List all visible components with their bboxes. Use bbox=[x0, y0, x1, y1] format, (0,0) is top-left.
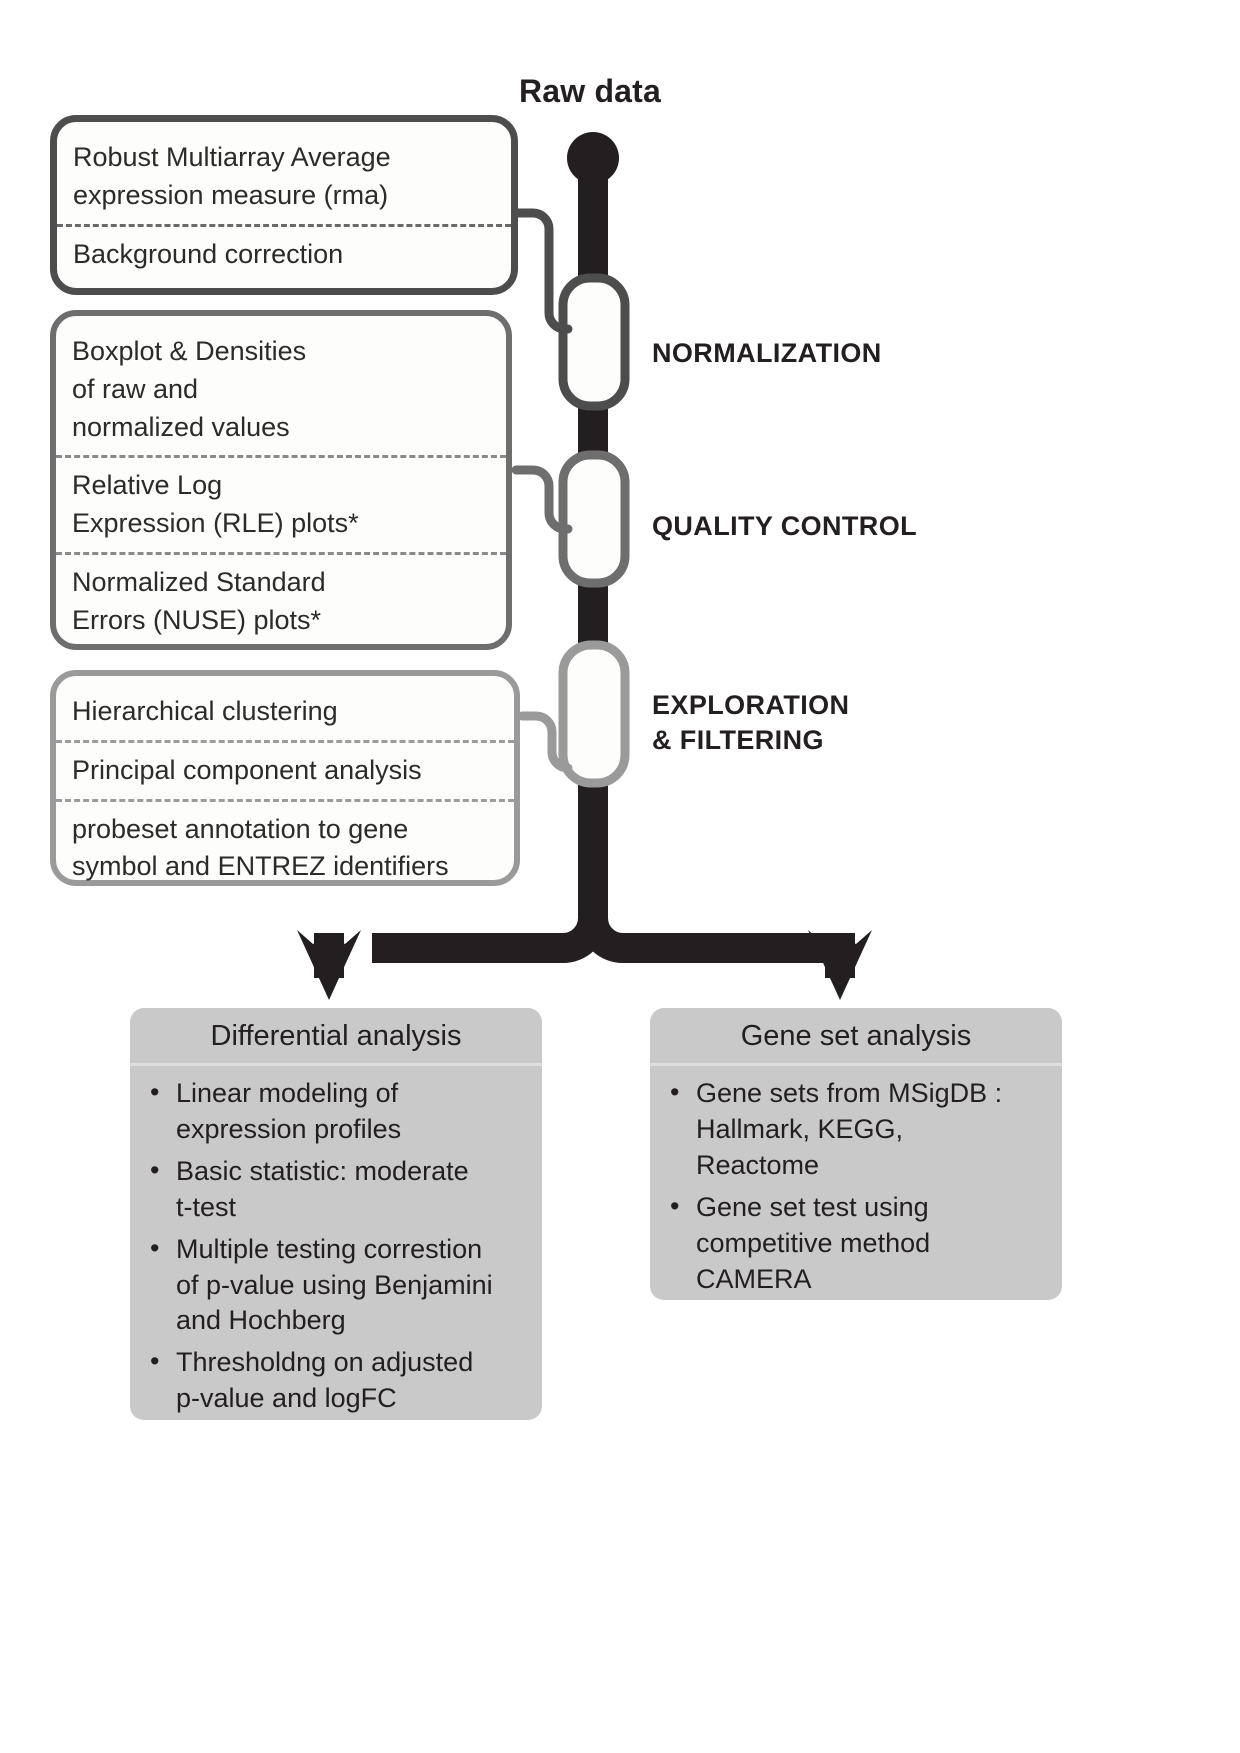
panel-bullet-list: Linear modeling of expression profiles B… bbox=[130, 1066, 542, 1420]
list-item: Basic statistic: moderate t-test bbox=[148, 1154, 528, 1226]
spine-trunk bbox=[567, 132, 619, 910]
analysis-panel-differential: Differential analysis Linear modeling of… bbox=[130, 1008, 542, 1420]
list-item: Linear modeling of expression profiles bbox=[148, 1076, 528, 1148]
stage-label-normalization: NORMALIZATION bbox=[652, 336, 882, 371]
stage-card-normalization: Robust Multiarray Average expression mea… bbox=[50, 115, 518, 295]
card-item: Normalized Standard Errors (NUSE) plots* bbox=[56, 552, 506, 649]
card-item: Robust Multiarray Average expression mea… bbox=[57, 130, 511, 224]
card-item: Relative Log Expression (RLE) plots* bbox=[56, 455, 506, 552]
list-item: Gene sets from MSigDB : Hallmark, KEGG, … bbox=[668, 1076, 1048, 1184]
fork-connector bbox=[297, 890, 872, 1000]
page-title: Raw data bbox=[455, 73, 725, 110]
panel-title: Differential analysis bbox=[130, 1008, 542, 1066]
stage-capsule-exploration-filtering bbox=[522, 645, 625, 783]
stage-card-quality-control: Boxplot & Densities of raw and normalize… bbox=[50, 310, 512, 650]
card-item: Boxplot & Densities of raw and normalize… bbox=[56, 324, 506, 455]
flowchart-canvas: Raw data bbox=[0, 0, 1240, 1753]
panel-title: Gene set analysis bbox=[650, 1008, 1062, 1066]
stage-label-quality-control: QUALITY CONTROL bbox=[652, 509, 917, 544]
card-item: probeset annotation to gene symbol and E… bbox=[56, 799, 514, 896]
stage-label-exploration-filtering: EXPLORATION & FILTERING bbox=[652, 688, 849, 757]
list-item: Gene set test using competitive method C… bbox=[668, 1190, 1048, 1298]
card-item: Background correction bbox=[57, 224, 511, 283]
stage-card-exploration-filtering: Hierarchical clustering Principal compon… bbox=[50, 670, 520, 886]
list-item: Thresholdng on adjusted p-value and logF… bbox=[148, 1345, 528, 1417]
stage-capsule-quality-control bbox=[516, 455, 625, 583]
card-item: Principal component analysis bbox=[56, 740, 514, 799]
panel-bullet-list: Gene sets from MSigDB : Hallmark, KEGG, … bbox=[650, 1066, 1062, 1300]
card-item: Hierarchical clustering bbox=[56, 684, 514, 740]
analysis-panel-gene-set: Gene set analysis Gene sets from MSigDB … bbox=[650, 1008, 1062, 1300]
stage-capsule-normalization bbox=[516, 213, 625, 406]
list-item: Multiple testing correstion of p-value u… bbox=[148, 1232, 528, 1340]
